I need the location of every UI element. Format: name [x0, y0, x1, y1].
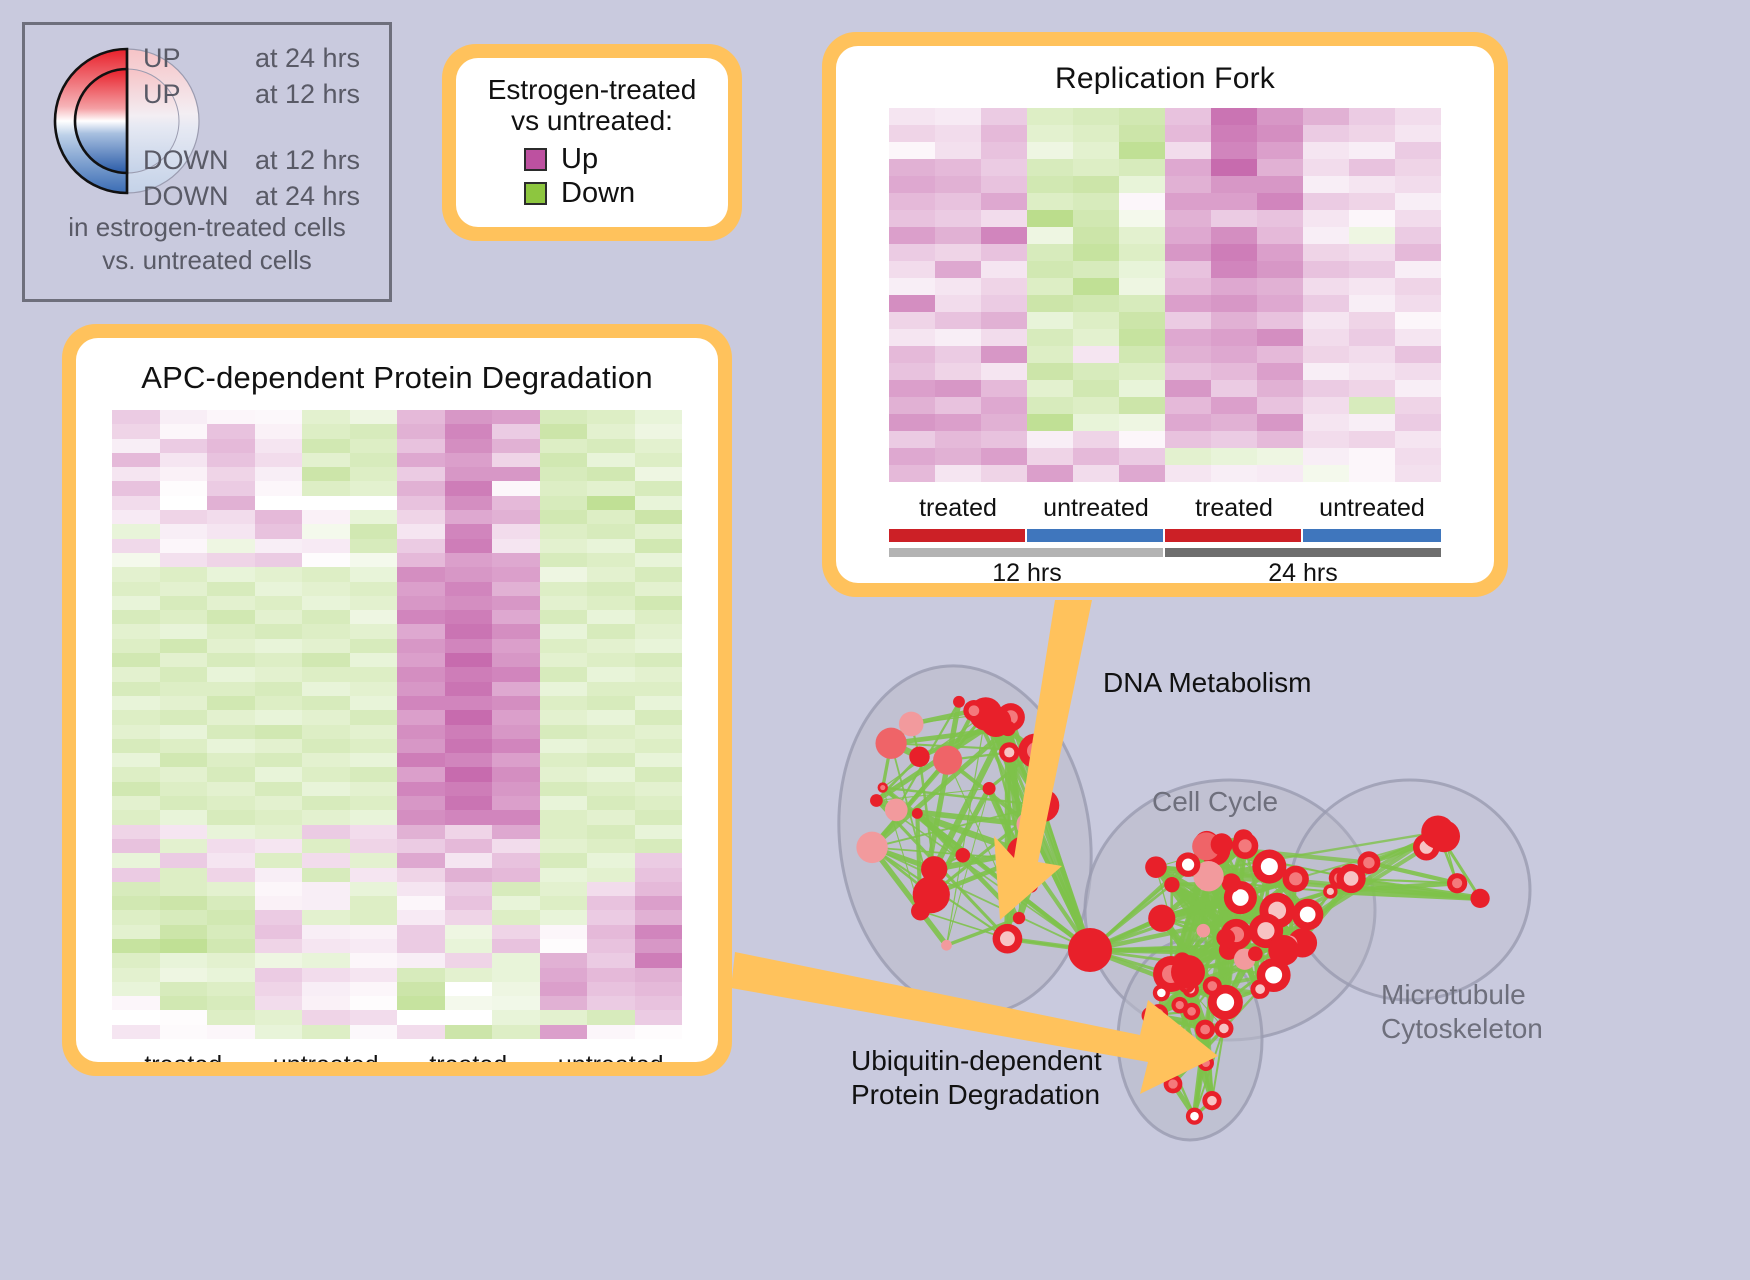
- heatmap-cell: [255, 767, 303, 781]
- heatmap-cell: [397, 539, 445, 553]
- condition-bar-segment: [889, 529, 1027, 542]
- heatmap-cell: [1303, 108, 1349, 125]
- heatmap-cell: [350, 481, 398, 495]
- heatmap-cell: [1349, 227, 1395, 244]
- heatmap-cell: [160, 682, 208, 696]
- heatmap-cell: [445, 467, 493, 481]
- heatmap-cell: [889, 465, 935, 482]
- heatmap-cell: [587, 725, 635, 739]
- heatmap-cell: [492, 667, 540, 681]
- heatmap-cell: [1027, 176, 1073, 193]
- heatmap-cell: [255, 739, 303, 753]
- heatmap-cell: [397, 439, 445, 453]
- heatmap-cell: [492, 553, 540, 567]
- heatmap-cell: [1349, 193, 1395, 210]
- heatmap-cell: [635, 710, 683, 724]
- heatmap-cell: [112, 624, 160, 638]
- heatmap-cell: [445, 596, 493, 610]
- heatmap-cell: [1257, 346, 1303, 363]
- heatmap-cell: [1165, 125, 1211, 142]
- heatmap-cell: [160, 710, 208, 724]
- network-node: [1016, 812, 1041, 837]
- heatmap-cell: [160, 653, 208, 667]
- heatmap-cell: [112, 753, 160, 767]
- network-node-core: [1289, 872, 1302, 885]
- heatmap-cell: [1165, 210, 1211, 227]
- heatmap-cell: [587, 553, 635, 567]
- heatmap-cell: [1211, 363, 1257, 380]
- heatmap-cell: [160, 439, 208, 453]
- heatmap-cell: [397, 882, 445, 896]
- heatmap-cell: [635, 539, 683, 553]
- heatmap-cell: [255, 496, 303, 510]
- heatmap-cell: [255, 696, 303, 710]
- heatmap-cell: [587, 653, 635, 667]
- heatmap-cell: [1395, 329, 1441, 346]
- heatmap-cell: [981, 176, 1027, 193]
- heatmap-cell: [1303, 244, 1349, 261]
- heatmap-cell: [587, 567, 635, 581]
- heatmap-cell: [540, 810, 588, 824]
- key-time: at 24 hrs: [255, 43, 360, 74]
- heatmap-cell: [1165, 380, 1211, 397]
- heatmap-cell: [981, 278, 1027, 295]
- heatmap-cell: [1027, 448, 1073, 465]
- heatmap-cell: [889, 329, 935, 346]
- heatmap-cell: [255, 853, 303, 867]
- heatmap-cell: [1257, 465, 1303, 482]
- network-node-core: [1000, 931, 1015, 946]
- heatmap-cell: [302, 524, 350, 538]
- heatmap-cell: [981, 312, 1027, 329]
- heatmap-cell: [1349, 295, 1395, 312]
- heatmap-cell: [1303, 329, 1349, 346]
- color-key-row: UP at 24 hrs: [143, 43, 393, 79]
- heatmap-cell: [255, 439, 303, 453]
- heatmap-cell: [587, 753, 635, 767]
- heatmap-cell: [492, 424, 540, 438]
- heatmap-cell: [1119, 448, 1165, 465]
- heatmap-cell: [1349, 159, 1395, 176]
- heatmap-cell: [1303, 312, 1349, 329]
- heatmap-cell: [160, 582, 208, 596]
- heatmap-cell: [302, 567, 350, 581]
- color-key-footer: in estrogen-treated cells vs. untreated …: [25, 211, 389, 276]
- legend-item-up: Up: [524, 143, 708, 177]
- axis-apc: treated untreated treated untreated 12 h: [112, 1049, 682, 1062]
- heatmap-cell: [1257, 278, 1303, 295]
- heatmap-cell: [397, 782, 445, 796]
- heatmap-cell: [635, 925, 683, 939]
- heatmap-cell: [112, 524, 160, 538]
- heatmap-cell: [1395, 363, 1441, 380]
- heatmap-cell: [540, 496, 588, 510]
- heatmap-cell: [112, 439, 160, 453]
- heatmap-cell: [1165, 278, 1211, 295]
- heatmap-cell: [1073, 448, 1119, 465]
- heatmap-cell: [302, 839, 350, 853]
- heatmap-cell: [255, 839, 303, 853]
- heatmap-cell: [397, 639, 445, 653]
- heatmap-cell: [160, 510, 208, 524]
- heatmap-cell: [445, 868, 493, 882]
- heatmap-cell: [492, 1025, 540, 1039]
- condition-label: untreated: [1027, 492, 1165, 526]
- heatmap-cell: [112, 496, 160, 510]
- heatmap-cell: [635, 1010, 683, 1024]
- heatmap-cell: [1349, 108, 1395, 125]
- heatmap-cell: [935, 329, 981, 346]
- heatmap-cell: [112, 539, 160, 553]
- color-key-row: UP at 12 hrs: [143, 79, 393, 115]
- heatmap-cell: [207, 410, 255, 424]
- heatmap-cell: [445, 796, 493, 810]
- heatmap-cell: [397, 453, 445, 467]
- heatmap-cell: [935, 397, 981, 414]
- heatmap-cell: [350, 467, 398, 481]
- time-labels: 12 hrs 24 hrs: [889, 559, 1441, 583]
- key-direction: UP: [143, 43, 255, 74]
- heatmap-cell: [1027, 414, 1073, 431]
- cluster-label-dna-metabolism: DNA Metabolism: [1103, 666, 1312, 700]
- network-node: [1013, 912, 1025, 924]
- heatmap-cell: [350, 725, 398, 739]
- heatmap-cell: [1165, 295, 1211, 312]
- heatmap-cell: [207, 496, 255, 510]
- heatmap-cell: [635, 439, 683, 453]
- heatmap-cell: [207, 1025, 255, 1039]
- heatmap-cell: [1027, 380, 1073, 397]
- heatmap-cell: [207, 539, 255, 553]
- heatmap-cell: [255, 467, 303, 481]
- cluster-label-ubiquitin-degradation: Ubiquitin-dependent Protein Degradation: [851, 1044, 1102, 1111]
- heatmap-cell: [1303, 227, 1349, 244]
- heatmap-cell: [540, 739, 588, 753]
- heatmap-cell: [492, 539, 540, 553]
- heatmap-cell: [635, 810, 683, 824]
- heatmap-cell: [889, 448, 935, 465]
- network-node: [899, 712, 924, 737]
- heatmap-cell: [540, 539, 588, 553]
- heatmap-cell: [112, 424, 160, 438]
- heatmap-cell: [587, 982, 635, 996]
- heatmap-cell: [350, 453, 398, 467]
- heatmap-cell: [1027, 193, 1073, 210]
- heatmap-cell: [540, 667, 588, 681]
- heatmap-cell: [1073, 125, 1119, 142]
- heatmap-cell: [1395, 159, 1441, 176]
- heatmap-cell: [540, 596, 588, 610]
- heatmap-cell: [981, 159, 1027, 176]
- heatmap-cell: [492, 839, 540, 853]
- heatmap-cell: [492, 868, 540, 882]
- legend-label-down: Down: [561, 179, 635, 208]
- heatmap-cell: [981, 261, 1027, 278]
- network-node: [933, 746, 962, 775]
- heatmap-cell: [492, 653, 540, 667]
- heatmap-cell: [1211, 125, 1257, 142]
- key-time: at 12 hrs: [255, 145, 360, 176]
- heatmap-cell: [350, 424, 398, 438]
- heatmap-cell: [935, 125, 981, 142]
- heatmap-cell: [350, 896, 398, 910]
- heatmap-cell: [350, 624, 398, 638]
- heatmap-cell: [397, 982, 445, 996]
- heatmap-cell: [540, 410, 588, 424]
- heatmap-cell: [445, 896, 493, 910]
- network-node: [921, 856, 947, 882]
- network-node-core: [1300, 907, 1316, 923]
- heatmap-cell: [1349, 448, 1395, 465]
- heatmap-cell: [302, 696, 350, 710]
- color-key-row: DOWN at 12 hrs: [143, 145, 393, 181]
- heatmap-cell: [1119, 431, 1165, 448]
- heatmap-cell: [1257, 380, 1303, 397]
- heatmap-cell: [207, 896, 255, 910]
- heatmap-cell: [587, 639, 635, 653]
- legend-swatch-up-icon: [524, 148, 547, 171]
- heatmap-cell: [1073, 244, 1119, 261]
- condition-bar-segment: [1165, 529, 1303, 542]
- heatmap-cell: [302, 953, 350, 967]
- heatmap-cell: [1395, 261, 1441, 278]
- heatmap-cell: [207, 596, 255, 610]
- heatmap-cell: [587, 739, 635, 753]
- heatmap-cell: [1119, 346, 1165, 363]
- heatmap-cell: [492, 624, 540, 638]
- heatmap-cell: [302, 610, 350, 624]
- heatmap-cell: [1211, 244, 1257, 261]
- heatmap-cell: [492, 753, 540, 767]
- heatmap-cell: [302, 667, 350, 681]
- network-node-core: [1154, 1009, 1163, 1018]
- heatmap-cell: [302, 910, 350, 924]
- heatmap-cell: [540, 996, 588, 1010]
- heatmap-cell: [1073, 261, 1119, 278]
- heatmap-cell: [492, 453, 540, 467]
- replication-fork-panel: Replication Fork treated untreated treat…: [822, 32, 1508, 597]
- heatmap-cell: [255, 825, 303, 839]
- heatmap-cell: [1395, 176, 1441, 193]
- heatmap-cell: [160, 539, 208, 553]
- heatmap-cell: [635, 767, 683, 781]
- heatmap-cell: [540, 753, 588, 767]
- heatmap-cell: [255, 410, 303, 424]
- heatmap-cell: [1165, 193, 1211, 210]
- heatmap-cell: [302, 882, 350, 896]
- heatmap-cell: [1349, 312, 1395, 329]
- heatmap-apc: [112, 410, 682, 1039]
- heatmap-cell: [540, 567, 588, 581]
- heatmap-cell: [981, 431, 1027, 448]
- heatmap-cell: [350, 853, 398, 867]
- heatmap-cell: [587, 853, 635, 867]
- heatmap-cell: [445, 453, 493, 467]
- heatmap-cell: [587, 582, 635, 596]
- heatmap-cell: [255, 925, 303, 939]
- heatmap-cell: [207, 825, 255, 839]
- heatmap-cell: [302, 439, 350, 453]
- heatmap-cell: [587, 696, 635, 710]
- heatmap-cell: [445, 481, 493, 495]
- heatmap-cell: [255, 710, 303, 724]
- heatmap-cell: [397, 810, 445, 824]
- heatmap-cell: [112, 682, 160, 696]
- heatmap-cell: [207, 996, 255, 1010]
- condition-bar-segment: [1303, 529, 1441, 542]
- heatmap-cell: [1119, 363, 1165, 380]
- heatmap-cell: [397, 524, 445, 538]
- heatmap-cell: [540, 610, 588, 624]
- network-svg: [790, 600, 1580, 1280]
- heatmap-cell: [207, 553, 255, 567]
- heatmap-cell: [1395, 346, 1441, 363]
- heatmap-cell: [445, 996, 493, 1010]
- heatmap-cell: [540, 653, 588, 667]
- heatmap-cell: [445, 1010, 493, 1024]
- heatmap-cell: [492, 910, 540, 924]
- heatmap-cell: [1119, 125, 1165, 142]
- heatmap-cell: [302, 467, 350, 481]
- heatmap-cell: [255, 624, 303, 638]
- heatmap-cell: [397, 968, 445, 982]
- heatmap-cell: [635, 682, 683, 696]
- heatmap-cell: [981, 329, 1027, 346]
- heatmap-cell: [302, 481, 350, 495]
- heatmap-cell: [302, 767, 350, 781]
- heatmap-cell: [1303, 159, 1349, 176]
- heatmap-cell: [160, 410, 208, 424]
- heatmap-cell: [935, 431, 981, 448]
- heatmap-cell: [255, 782, 303, 796]
- apc-panel: APC-dependent Protein Degradation treate…: [62, 324, 732, 1076]
- network-node-core: [1452, 878, 1462, 888]
- heatmap-cell: [492, 481, 540, 495]
- legend-title-line1: Estrogen-treated: [476, 74, 708, 105]
- heatmap-cell: [1119, 295, 1165, 312]
- condition-labels: treated untreated treated untreated: [112, 1049, 682, 1062]
- heatmap-cell: [935, 278, 981, 295]
- heatmap-cell: [1165, 142, 1211, 159]
- network-node: [1145, 856, 1167, 878]
- legend-swatch-down-icon: [524, 182, 547, 205]
- heatmap-cell: [540, 982, 588, 996]
- heatmap-cell: [160, 868, 208, 882]
- heatmap-cell: [1257, 244, 1303, 261]
- key-direction: DOWN: [143, 181, 255, 212]
- heatmap-cell: [160, 982, 208, 996]
- heatmap-cell: [302, 753, 350, 767]
- time-label: 24 hrs: [1165, 559, 1441, 583]
- network-node-core: [1261, 858, 1278, 875]
- heatmap-cell: [1119, 142, 1165, 159]
- heatmap-cell: [635, 868, 683, 882]
- heatmap-cell: [587, 524, 635, 538]
- heatmap-cell: [1073, 363, 1119, 380]
- heatmap-cell: [397, 696, 445, 710]
- heatmap-cell: [1165, 346, 1211, 363]
- heatmap-cell: [1165, 397, 1211, 414]
- heatmap-cell: [587, 624, 635, 638]
- heatmap-cell: [445, 910, 493, 924]
- heatmap-cell: [112, 1010, 160, 1024]
- network-node: [1197, 924, 1211, 938]
- network-node-core: [1187, 1007, 1196, 1016]
- heatmap-cell: [889, 278, 935, 295]
- heatmap-cell: [492, 467, 540, 481]
- heatmap-cell: [1303, 295, 1349, 312]
- heatmap-cell: [302, 624, 350, 638]
- heatmap-cell: [160, 1025, 208, 1039]
- heatmap-cell: [397, 710, 445, 724]
- heatmap-cell: [1211, 108, 1257, 125]
- heatmap-cell: [207, 510, 255, 524]
- heatmap-cell: [160, 853, 208, 867]
- heatmap-cell: [1211, 414, 1257, 431]
- heatmap-cell: [207, 639, 255, 653]
- heatmap-cell: [981, 346, 1027, 363]
- heatmap-cell: [1303, 380, 1349, 397]
- heatmap-cell: [492, 439, 540, 453]
- key-spacer: [143, 115, 393, 145]
- heatmap-cell: [492, 825, 540, 839]
- heatmap-cell: [1257, 329, 1303, 346]
- heatmap-cell: [492, 682, 540, 696]
- heatmap-cell: [350, 996, 398, 1010]
- heatmap-cell: [1165, 312, 1211, 329]
- heatmap-cell: [1073, 159, 1119, 176]
- heatmap-cell: [445, 968, 493, 982]
- heatmap-cell: [935, 380, 981, 397]
- heatmap-cell: [445, 739, 493, 753]
- heatmap-cell: [255, 510, 303, 524]
- heatmap-cell: [587, 682, 635, 696]
- heatmap-cell: [302, 725, 350, 739]
- heatmap-cell: [255, 682, 303, 696]
- heatmap-cell: [935, 193, 981, 210]
- heatmap-cell: [302, 853, 350, 867]
- heatmap-cell: [302, 868, 350, 882]
- heatmap-cell: [207, 953, 255, 967]
- heatmap-cell: [397, 582, 445, 596]
- heatmap-cell: [540, 510, 588, 524]
- heatmap-cell: [1119, 108, 1165, 125]
- heatmap-cell: [1395, 278, 1441, 295]
- heatmap-cell: [207, 925, 255, 939]
- heatmap-cell: [1257, 227, 1303, 244]
- heatmap-cell: [935, 159, 981, 176]
- heatmap-cell: [445, 882, 493, 896]
- heatmap-cell: [207, 782, 255, 796]
- heatmap-cell: [350, 410, 398, 424]
- heatmap-cell: [889, 431, 935, 448]
- heatmap-cell: [207, 753, 255, 767]
- heatmap-cell: [207, 582, 255, 596]
- heatmap-cell: [207, 653, 255, 667]
- network-node: [870, 794, 883, 807]
- heatmap-cell: [160, 767, 208, 781]
- heatmap-cell: [207, 467, 255, 481]
- heatmap-cell: [1303, 448, 1349, 465]
- heatmap-cell: [1257, 431, 1303, 448]
- network-node: [1216, 929, 1235, 948]
- heatmap-cell: [635, 639, 683, 653]
- heatmap-cell: [492, 739, 540, 753]
- heatmap-cell: [302, 539, 350, 553]
- heatmap-cell: [255, 996, 303, 1010]
- heatmap-cell: [540, 467, 588, 481]
- heatmap-cell: [207, 696, 255, 710]
